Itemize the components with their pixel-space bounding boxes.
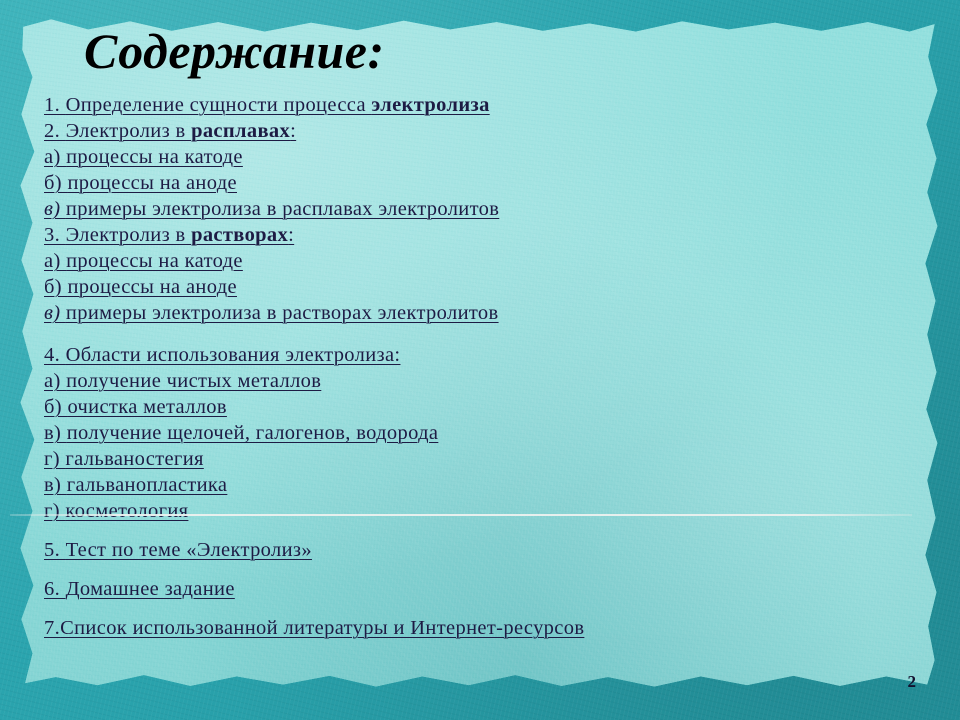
toc-block-5: 7.Список использованной литературы и Инт… (44, 615, 924, 641)
toc-item[interactable]: 1. Определение сущности процесса электро… (44, 92, 924, 118)
toc-item[interactable]: а) процессы на катоде (44, 144, 924, 170)
toc-item[interactable]: а) получение чистых металлов (44, 368, 924, 394)
page-title: Содержание: (84, 22, 385, 80)
toc-block-1: 1. Определение сущности процесса электро… (44, 92, 924, 326)
table-of-contents: 1. Определение сущности процесса электро… (44, 92, 924, 641)
toc-item[interactable]: в) гальванопластика (44, 472, 924, 498)
page-number: 2 (908, 672, 917, 692)
presentation-slide: Содержание: 1. Определение сущности проц… (0, 0, 960, 720)
toc-block-2: 4. Области использования электролиза: а)… (44, 342, 924, 524)
toc-item[interactable]: б) процессы на аноде (44, 274, 924, 300)
toc-item[interactable]: 7.Список использованной литературы и Инт… (44, 615, 924, 641)
toc-item[interactable]: 6. Домашнее задание (44, 576, 924, 602)
toc-item[interactable]: в) примеры электролиза в расплавах элект… (44, 196, 924, 222)
toc-item[interactable]: г) гальваностегия (44, 446, 924, 472)
toc-item[interactable]: г) косметология (44, 498, 924, 524)
toc-item[interactable]: 4. Области использования электролиза: (44, 342, 924, 368)
toc-item[interactable]: в) примеры электролиза в растворах элект… (44, 300, 924, 326)
toc-item[interactable]: а) процессы на катоде (44, 248, 924, 274)
toc-item[interactable]: 5. Тест по теме «Электролиз» (44, 537, 924, 563)
toc-item[interactable]: б) процессы на аноде (44, 170, 924, 196)
toc-block-4: 6. Домашнее задание (44, 576, 924, 602)
toc-item[interactable]: 3. Электролиз в растворах: (44, 222, 924, 248)
toc-block-3: 5. Тест по теме «Электролиз» (44, 537, 924, 563)
slide-content: Содержание: 1. Определение сущности проц… (0, 0, 960, 720)
toc-item[interactable]: б) очистка металлов (44, 394, 924, 420)
toc-item[interactable]: 2. Электролиз в расплавах: (44, 118, 924, 144)
toc-item[interactable]: в) получение щелочей, галогенов, водород… (44, 420, 924, 446)
horizontal-divider (10, 514, 912, 516)
